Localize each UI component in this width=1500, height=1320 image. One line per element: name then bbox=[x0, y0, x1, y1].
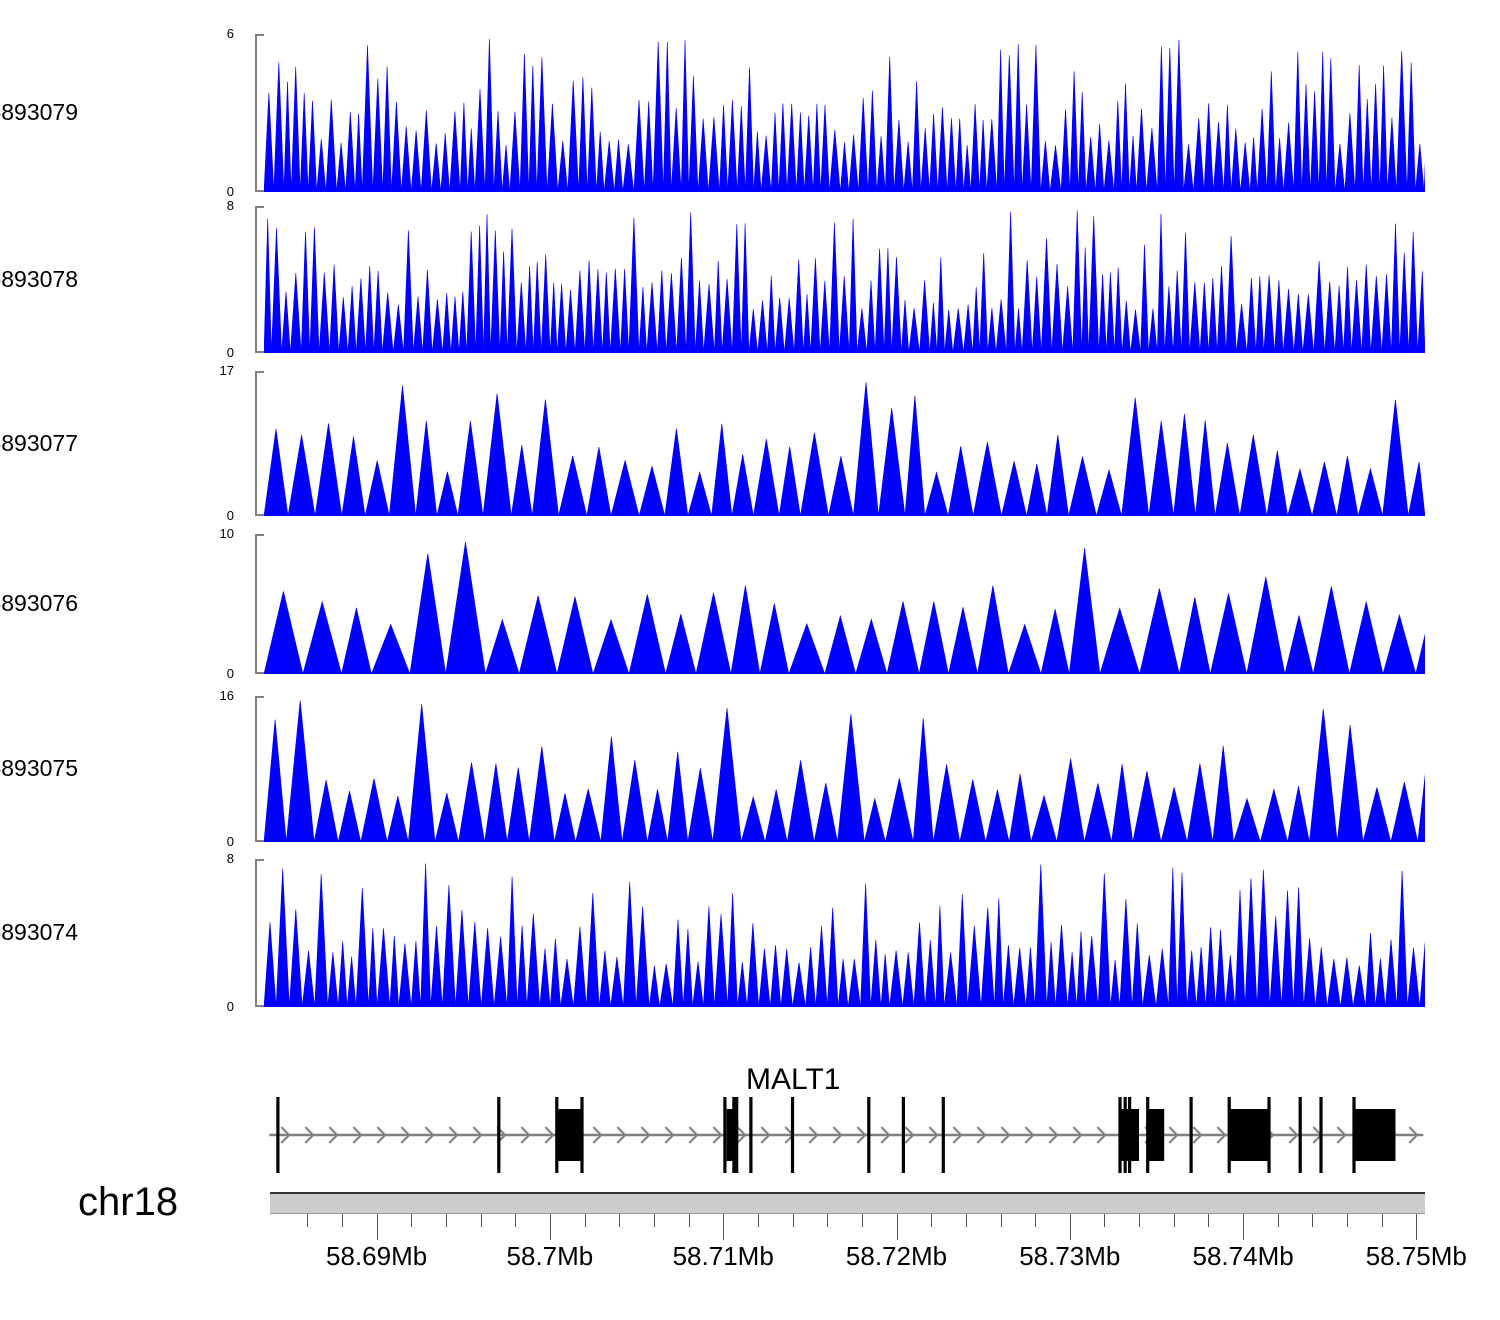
ruler-major-tick bbox=[550, 1214, 551, 1240]
y-axis-min-label: 0 bbox=[0, 667, 234, 680]
ruler-minor-tick bbox=[862, 1214, 863, 1227]
genome-ruler: 58.69Mb58.7Mb58.71Mb58.72Mb58.73Mb58.74M… bbox=[0, 1214, 1500, 1284]
ideogram-bar[interactable] bbox=[270, 1192, 1425, 1214]
y-axis-bracket bbox=[255, 34, 264, 192]
ruler-tick-label: 58.73Mb bbox=[1019, 1242, 1120, 1270]
ruler-tick-label: 58.69Mb bbox=[326, 1242, 427, 1270]
ruler-tick-label: 58.71Mb bbox=[673, 1242, 774, 1270]
ruler-major-tick bbox=[377, 1214, 378, 1240]
ruler-minor-tick bbox=[307, 1214, 308, 1227]
track-sample-label: GSM6893074 bbox=[0, 921, 78, 944]
y-axis-bracket bbox=[255, 859, 264, 1007]
ruler-minor-tick bbox=[654, 1214, 655, 1227]
y-axis-bracket bbox=[255, 371, 264, 516]
ruler-minor-tick bbox=[411, 1214, 412, 1227]
ruler-minor-tick bbox=[585, 1214, 586, 1227]
y-axis-min-label: 0 bbox=[0, 835, 234, 848]
gene-model-track[interactable] bbox=[0, 1060, 1500, 1190]
coverage-signal[interactable] bbox=[264, 206, 1425, 353]
ruler-minor-tick bbox=[1035, 1214, 1036, 1227]
coverage-signal[interactable] bbox=[264, 859, 1425, 1007]
y-axis-max-label: 8 bbox=[0, 852, 234, 865]
y-axis-max-label: 10 bbox=[0, 527, 234, 540]
coverage-signal[interactable] bbox=[264, 534, 1425, 674]
y-axis-max-label: 6 bbox=[0, 27, 234, 40]
y-axis-max-label: 16 bbox=[0, 689, 234, 702]
ruler-tick-label: 58.72Mb bbox=[846, 1242, 947, 1270]
ruler-tick-label: 58.7Mb bbox=[507, 1242, 594, 1270]
track-sample-label: GSM6893075 bbox=[0, 757, 78, 780]
ruler-minor-tick bbox=[515, 1214, 516, 1227]
track-sample-label: GSM6893078 bbox=[0, 268, 78, 291]
y-axis-min-label: 0 bbox=[0, 1000, 234, 1013]
ruler-minor-tick bbox=[1278, 1214, 1279, 1227]
ruler-minor-tick bbox=[1382, 1214, 1383, 1227]
ruler-major-tick bbox=[1070, 1214, 1071, 1240]
ruler-minor-tick bbox=[1312, 1214, 1313, 1227]
y-axis-max-label: 8 bbox=[0, 199, 234, 212]
ruler-minor-tick bbox=[827, 1214, 828, 1227]
y-axis-min-label: 0 bbox=[0, 185, 234, 198]
y-axis-bracket bbox=[255, 696, 264, 842]
ruler-major-tick bbox=[897, 1214, 898, 1240]
ruler-minor-tick bbox=[619, 1214, 620, 1227]
ruler-minor-tick bbox=[931, 1214, 932, 1227]
y-axis-bracket bbox=[255, 534, 264, 674]
track-sample-label: GSM6893076 bbox=[0, 592, 78, 615]
y-axis-max-label: 17 bbox=[0, 364, 234, 377]
track-sample-label: GSM6893077 bbox=[0, 432, 78, 455]
coverage-signal[interactable] bbox=[264, 34, 1425, 192]
y-axis-bracket bbox=[255, 206, 264, 353]
ruler-minor-tick bbox=[481, 1214, 482, 1227]
ruler-minor-tick bbox=[1139, 1214, 1140, 1227]
ruler-minor-tick bbox=[793, 1214, 794, 1227]
ruler-minor-tick bbox=[1001, 1214, 1002, 1227]
ruler-major-tick bbox=[1416, 1214, 1417, 1240]
ruler-minor-tick bbox=[1208, 1214, 1209, 1227]
ruler-minor-tick bbox=[342, 1214, 343, 1227]
ruler-minor-tick bbox=[966, 1214, 967, 1227]
ruler-major-tick bbox=[1243, 1214, 1244, 1240]
ruler-minor-tick bbox=[446, 1214, 447, 1227]
coverage-signal[interactable] bbox=[264, 696, 1425, 842]
ruler-minor-tick bbox=[1347, 1214, 1348, 1227]
coverage-signal[interactable] bbox=[264, 371, 1425, 516]
ruler-major-tick bbox=[723, 1214, 724, 1240]
y-axis-min-label: 0 bbox=[0, 346, 234, 359]
ruler-minor-tick bbox=[1104, 1214, 1105, 1227]
ruler-minor-tick bbox=[689, 1214, 690, 1227]
ruler-tick-label: 58.75Mb bbox=[1366, 1242, 1467, 1270]
genome-browser: GSM689307960GSM689307880GSM6893077170GSM… bbox=[0, 0, 1500, 1320]
ruler-minor-tick bbox=[1174, 1214, 1175, 1227]
ruler-tick-label: 58.74Mb bbox=[1193, 1242, 1294, 1270]
track-sample-label: GSM6893079 bbox=[0, 101, 78, 124]
ruler-minor-tick bbox=[758, 1214, 759, 1227]
y-axis-min-label: 0 bbox=[0, 509, 234, 522]
